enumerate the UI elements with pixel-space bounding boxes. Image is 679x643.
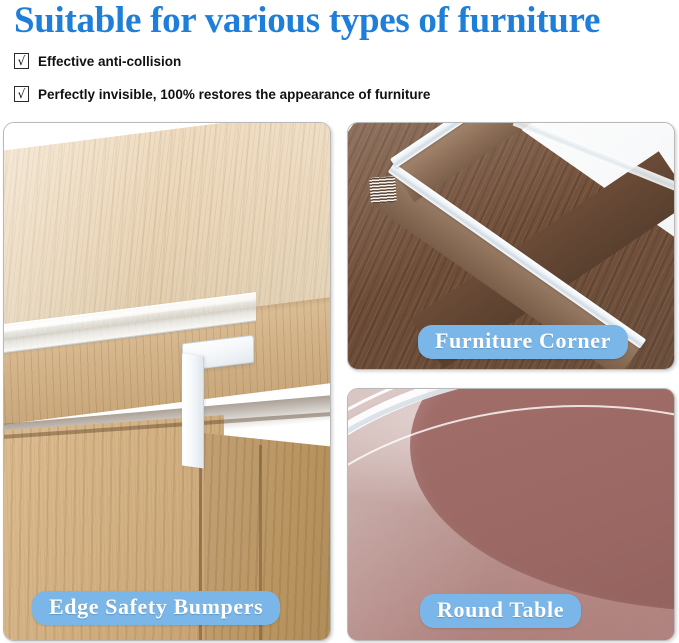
badge-edge-safety-bumpers: Edge Safety Bumpers [32, 591, 280, 625]
feature-list: √ Effective anti-collision √ Perfectly i… [14, 48, 664, 114]
badge-furniture-corner: Furniture Corner [418, 325, 628, 359]
feature-item: √ Perfectly invisible, 100% restores the… [14, 81, 664, 107]
feature-text: Effective anti-collision [38, 54, 181, 69]
badge-round-table: Round Table [420, 594, 581, 628]
feature-text: Perfectly invisible, 100% restores the a… [38, 87, 430, 102]
checkmark-icon: √ [14, 86, 29, 102]
photo-edge-guard-on-oak-cabinet [4, 123, 330, 640]
panel-edge-safety-bumpers: Edge Safety Bumpers [3, 122, 331, 641]
checkmark-icon: √ [14, 53, 29, 69]
feature-item: √ Effective anti-collision [14, 48, 664, 74]
panel-round-table: Round Table [347, 388, 675, 641]
panel-furniture-corner: Furniture Corner [347, 122, 675, 370]
header: Suitable for various types of furniture … [0, 0, 679, 118]
page-title: Suitable for various types of furniture [14, 0, 674, 42]
product-infographic: Suitable for various types of furniture … [0, 0, 679, 643]
